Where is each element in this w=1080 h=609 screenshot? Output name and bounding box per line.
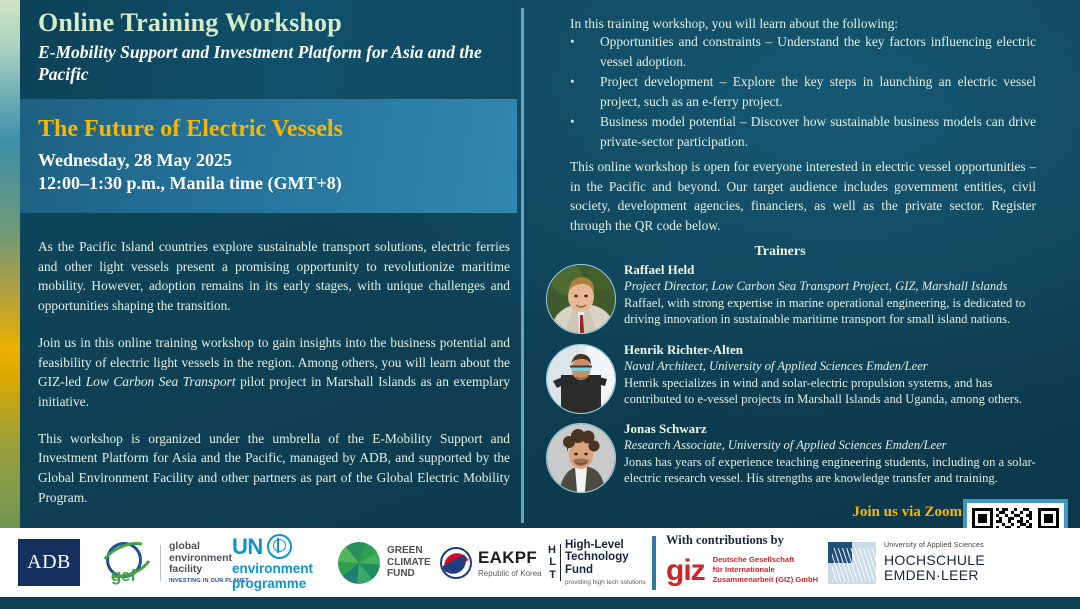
giz-line-3: Zusammenarbeit (GIZ) GmbH xyxy=(713,575,818,585)
list-item: • Project development – Explore the key … xyxy=(570,72,1036,111)
left-paragraph-1: As the Pacific Island countries explore … xyxy=(38,237,510,316)
adb-wordmark: ADB xyxy=(18,539,80,586)
trainer-name: Henrik Richter-Alten xyxy=(624,342,1048,358)
logo-adb: ADB xyxy=(18,528,80,597)
hochschule-emblem-icon xyxy=(828,542,876,584)
hltf-line-3: Fund xyxy=(565,564,646,577)
unep-un-wordmark: UN xyxy=(232,534,263,560)
list-item: • Opportunities and constraints – Unders… xyxy=(570,32,1036,71)
trainer-description: Henrik specializes in wind and solar-ele… xyxy=(624,375,1048,408)
un-emblem-icon xyxy=(267,534,292,559)
hltf-line-1: High-Level xyxy=(565,539,646,552)
footer-bottom-strip xyxy=(0,597,1080,609)
project-name-italic: Low Carbon Sea Transport xyxy=(86,374,236,389)
taegeuk-icon xyxy=(440,547,472,579)
avatar-photo xyxy=(547,265,615,333)
unep-line-1: environment xyxy=(232,561,313,576)
gef-wordmark: gef xyxy=(111,566,136,586)
giz-wordmark: giz xyxy=(666,557,705,584)
hochschule-line-1: HOCHSCHULE xyxy=(884,553,985,568)
gcf-globe-icon xyxy=(338,542,380,584)
hochschule-university-label: University of Applied Sciences xyxy=(884,542,985,549)
left-body-text: As the Pacific Island countries explore … xyxy=(38,237,510,524)
event-date: Wednesday, 28 May 2025 xyxy=(38,150,232,172)
gcf-line-2: CLIMATE xyxy=(387,557,431,569)
right-intro-text: In this training workshop, you will lear… xyxy=(570,14,1036,34)
avatar-photo xyxy=(547,345,615,413)
avatar-photo xyxy=(547,424,615,492)
list-item: • Business model potential – Discover ho… xyxy=(570,112,1036,151)
trainer-description: Raffael, with strong expertise in marine… xyxy=(624,295,1048,328)
logo-eakpf: EAKPF Republic of Korea xyxy=(440,528,542,597)
bullet-marker-icon: • xyxy=(570,32,600,71)
left-accent-gradient-strip xyxy=(0,0,20,528)
unep-line-2: programme xyxy=(232,576,313,591)
learning-objectives-list: • Opportunities and constraints – Unders… xyxy=(570,32,1036,152)
hltf-tagline: providing high tech solutions xyxy=(565,579,646,586)
logo-giz: giz Deutsche Gesellschaft für Internatio… xyxy=(666,548,818,592)
hltf-initials: HLT xyxy=(548,544,561,581)
list-item-label: Business model potential – Discover how … xyxy=(600,112,1036,151)
trainers-heading: Trainers xyxy=(570,244,990,260)
logo-high-level-technology-fund: HLT High-Level Technology Fund providing… xyxy=(548,528,646,597)
left-paragraph-3: This workshop is organized under the umb… xyxy=(38,429,510,508)
trainer-description: Jonas has years of experience teaching e… xyxy=(624,454,1048,487)
trainer-info: Raffael Held Project Director, Low Carbo… xyxy=(624,262,1048,327)
trainer-name: Jonas Schwarz xyxy=(624,421,1048,437)
avatar xyxy=(546,264,616,334)
column-divider xyxy=(521,8,524,523)
trainer-info: Henrik Richter-Alten Naval Architect, Un… xyxy=(624,342,1048,407)
event-time: 12:00–1:30 p.m., Manila time (GMT+8) xyxy=(38,173,342,195)
gef-globe-icon: gef xyxy=(100,539,152,586)
eakpf-subtitle: Republic of Korea xyxy=(478,569,542,578)
hochschule-line-2: EMDEN·LEER xyxy=(884,568,985,583)
trainer-role: Naval Architect, University of Applied S… xyxy=(624,358,1048,374)
bullet-marker-icon: • xyxy=(570,112,600,151)
gcf-line-3: FUND xyxy=(387,568,431,580)
eakpf-wordmark: EAKPF xyxy=(478,548,542,568)
giz-line-2: für Internationale xyxy=(713,565,818,575)
hltf-line-2: Technology xyxy=(565,551,646,564)
bullet-marker-icon: • xyxy=(570,72,600,111)
event-title: The Future of Electric Vessels xyxy=(38,116,508,142)
right-closing-paragraph: This online workshop is open for everyon… xyxy=(570,157,1036,235)
avatar xyxy=(546,344,616,414)
logo-green-climate-fund: GREEN CLIMATE FUND xyxy=(338,528,431,597)
page-subtitle: E-Mobility Support and Investment Platfo… xyxy=(38,41,498,86)
logo-unep: UN environment programme xyxy=(232,528,313,597)
trainer-role: Project Director, Low Carbon Sea Transpo… xyxy=(624,278,1048,294)
left-paragraph-2: Join us in this online training workshop… xyxy=(38,333,510,412)
list-item-label: Project development – Explore the key st… xyxy=(600,72,1036,111)
page-title: Online Training Workshop xyxy=(38,8,508,37)
trainer-name: Raffael Held xyxy=(624,262,1048,278)
trainer-role: Research Associate, University of Applie… xyxy=(624,437,1048,453)
contributions-separator-bar xyxy=(652,536,656,590)
logo-hochschule-emden-leer: University of Applied Sciences HOCHSCHUL… xyxy=(828,528,985,597)
poster-canvas: Online Training Workshop E-Mobility Supp… xyxy=(0,0,1080,609)
trainer-info: Jonas Schwarz Research Associate, Univer… xyxy=(624,421,1048,486)
footer-logo-bar: ADB gef global environment facility INVE… xyxy=(0,528,1080,597)
contributions-label: With contributions by xyxy=(666,533,784,548)
giz-line-1: Deutsche Gesellschaft xyxy=(713,555,818,565)
list-item-label: Opportunities and constraints – Understa… xyxy=(600,32,1036,71)
join-via-zoom-label: Join us via Zoom xyxy=(832,504,962,521)
divider xyxy=(160,545,161,581)
avatar xyxy=(546,423,616,493)
logo-gef: gef global environment facility INVESTIN… xyxy=(100,528,249,597)
gcf-line-1: GREEN xyxy=(387,545,431,557)
